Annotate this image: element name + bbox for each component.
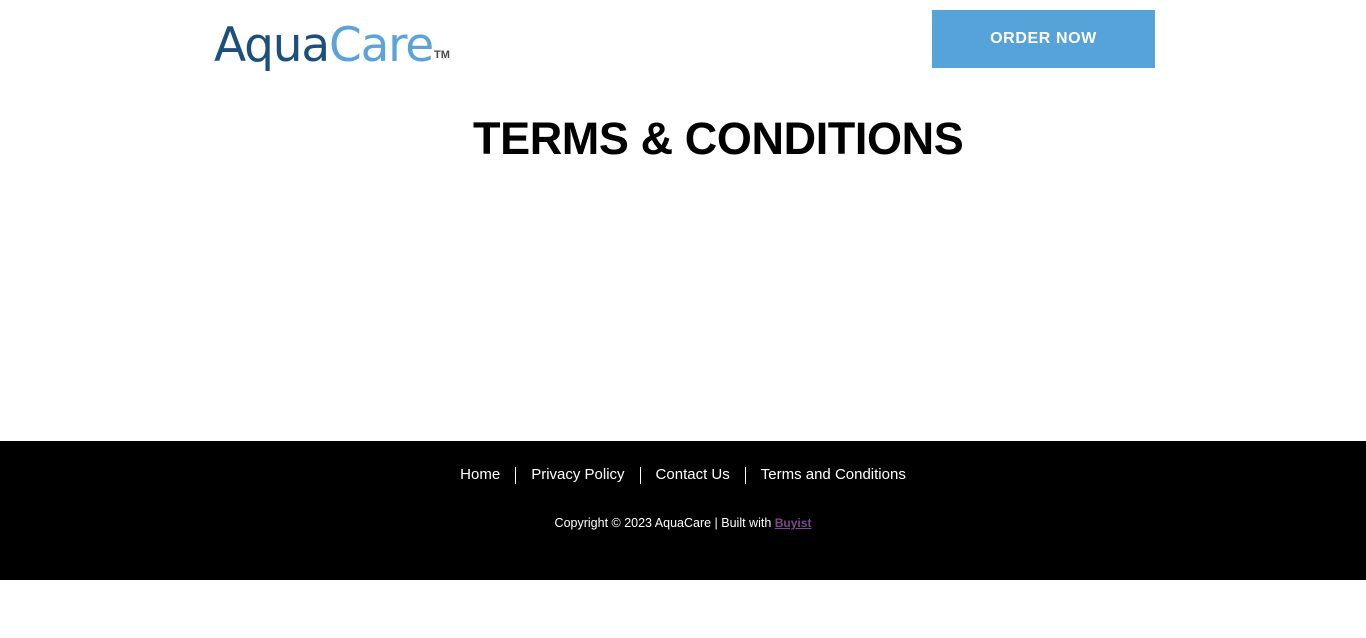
page-bottom-spacer [0, 580, 1366, 638]
terms-content-body [473, 190, 893, 200]
order-now-button[interactable]: ORDER NOW [932, 10, 1155, 68]
site-header: AquaCareTM ORDER NOW [0, 0, 1366, 80]
footer-navigation: Home Privacy Policy Contact Us Terms and… [0, 466, 1366, 484]
logo-wordmark: AquaCareTM [214, 22, 450, 69]
footer-link-privacy-policy[interactable]: Privacy Policy [516, 466, 639, 484]
builder-link-buyist[interactable]: Buyist [775, 516, 812, 530]
logo-text-care: Care [329, 18, 433, 73]
footer-link-terms-and-conditions[interactable]: Terms and Conditions [746, 466, 921, 484]
copyright-text: Copyright © 2023 AquaCare | Built with [555, 516, 775, 530]
footer-link-contact-us[interactable]: Contact Us [641, 466, 745, 484]
site-logo[interactable]: AquaCareTM [214, 11, 450, 69]
site-footer: Home Privacy Policy Contact Us Terms and… [0, 441, 1366, 580]
footer-copyright: Copyright © 2023 AquaCare | Built with B… [0, 515, 1366, 531]
trademark-icon: TM [434, 49, 450, 61]
logo-text-aqua: Aqua [214, 18, 329, 73]
page-title: TERMS & CONDITIONS [473, 112, 963, 166]
main-content: TERMS & CONDITIONS [0, 80, 1366, 441]
footer-link-home[interactable]: Home [445, 466, 515, 484]
